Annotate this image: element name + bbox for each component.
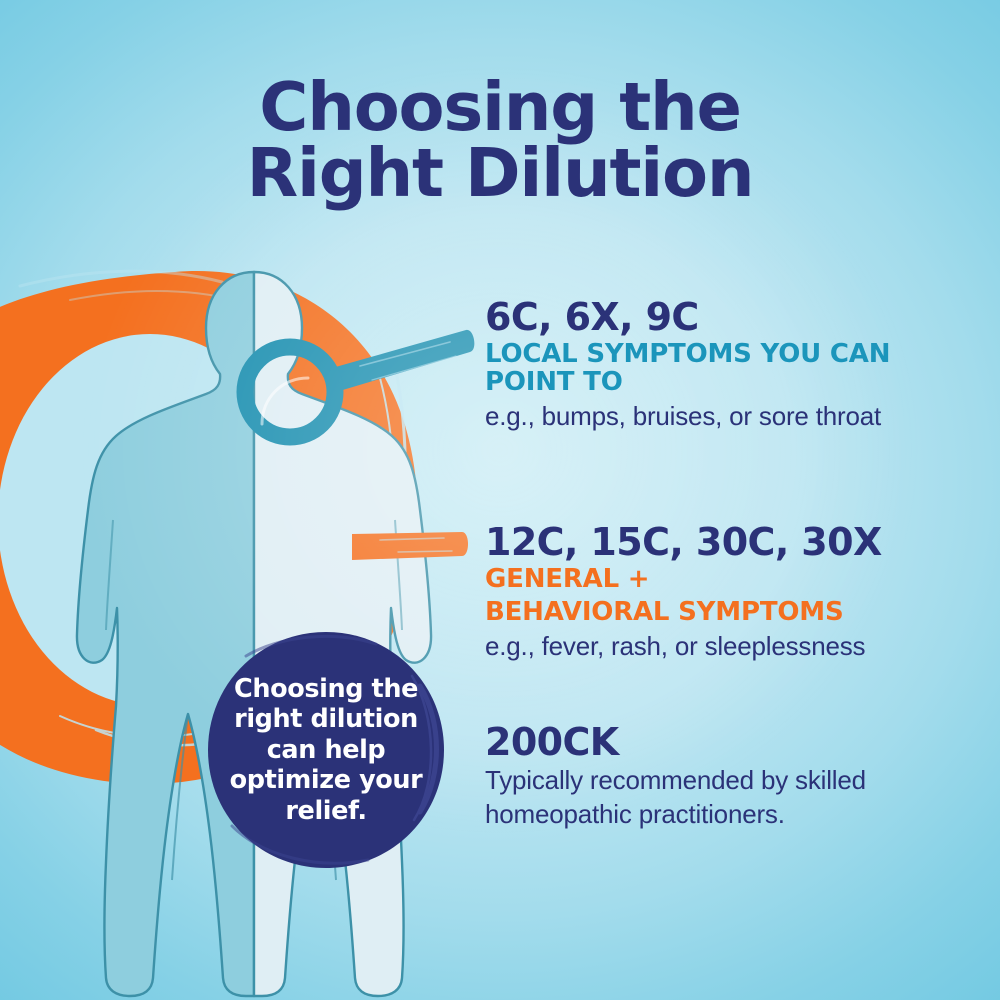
orange-brush-stroke-icon <box>352 532 468 560</box>
dilution-subtitle-low: LOCAL SYMPTOMS YOU CAN POINT TO <box>485 340 965 396</box>
dilution-heading-low: 6C, 6X, 9C <box>485 298 965 336</box>
dilution-description-high-line1: Typically recommended by skilled <box>485 765 965 797</box>
dilution-heading-mid: 12C, 15C, 30C, 30X <box>485 523 965 561</box>
dilution-block-mid: 12C, 15C, 30C, 30X GENERAL + BEHAVIORAL … <box>485 523 965 663</box>
dilution-subtitle-mid-line2: BEHAVIORAL SYMPTOMS <box>485 598 965 626</box>
title-line-2: Right Dilution <box>0 140 1000 206</box>
dilution-description-high-line2: homeopathic practitioners. <box>485 799 965 831</box>
tip-badge-text: Choosing the right dilution can help opt… <box>228 674 424 827</box>
infographic-poster: Choosing the Right Dilution 6C, 6X, 9C L… <box>0 0 1000 1000</box>
dilution-block-high: 200CK Typically recommended by skilled h… <box>485 723 965 830</box>
dilution-description-low: e.g., bumps, bruises, or sore throat <box>485 401 965 433</box>
tip-badge: Choosing the right dilution can help opt… <box>206 630 446 870</box>
dilution-block-low: 6C, 6X, 9C LOCAL SYMPTOMS YOU CAN POINT … <box>485 298 965 433</box>
dilution-description-mid: e.g., fever, rash, or sleeplessness <box>485 631 965 663</box>
page-title: Choosing the Right Dilution <box>0 74 1000 207</box>
dilution-subtitle-mid-line1: GENERAL + <box>485 565 965 593</box>
dilution-heading-high: 200CK <box>485 723 965 761</box>
